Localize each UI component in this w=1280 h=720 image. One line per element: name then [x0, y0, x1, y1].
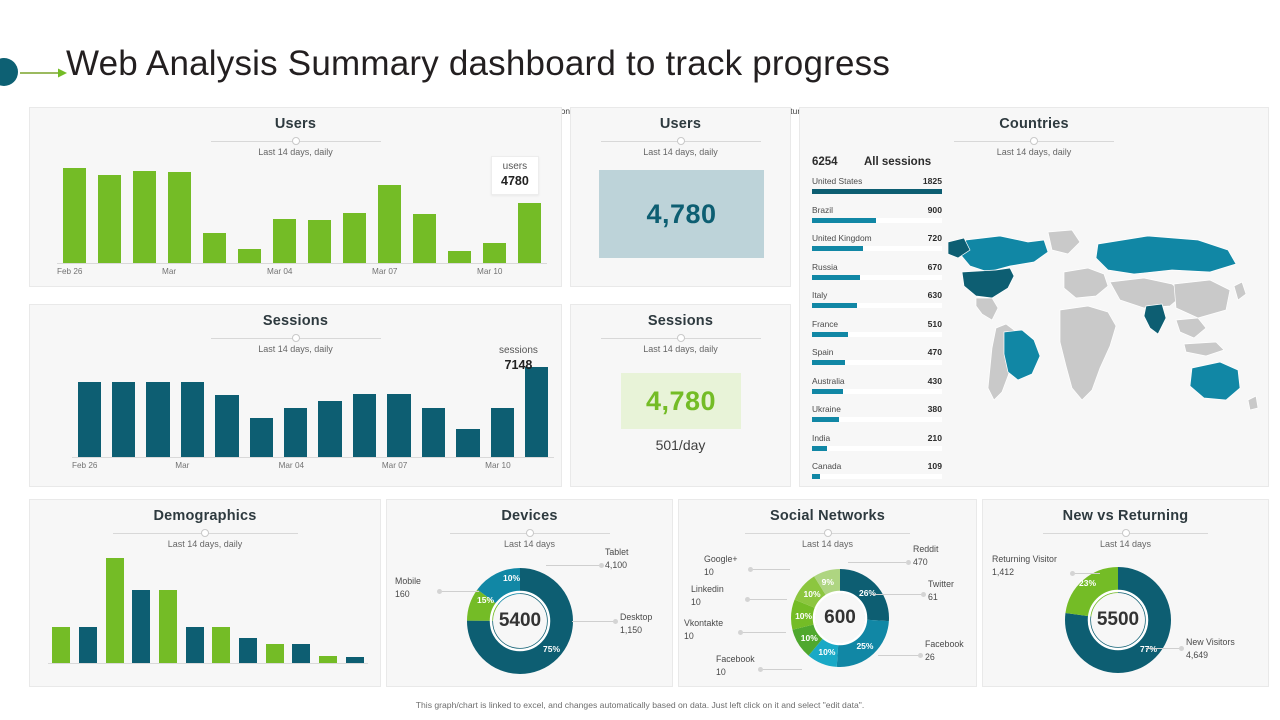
- country-bar-track: [812, 446, 942, 451]
- bar-column[interactable]: [128, 558, 155, 663]
- country-bar-track: [812, 360, 942, 365]
- country-bar-track: [812, 189, 942, 194]
- panel-subtitle: Last 14 days, daily: [30, 344, 561, 354]
- bar: [491, 408, 514, 457]
- leader-line-desktop: [572, 621, 616, 622]
- leader-line-mobile: [441, 591, 479, 592]
- social-callout: Reddit470: [913, 543, 938, 569]
- bar-column[interactable]: [485, 367, 519, 457]
- panel-title: Users: [571, 108, 790, 132]
- country-bar-track: [812, 332, 942, 337]
- bar-column[interactable]: [347, 367, 381, 457]
- social-slice-pct: 26%: [859, 588, 876, 598]
- leader-dot-returning: [1070, 571, 1075, 576]
- social-slice-pct: 9%: [822, 577, 834, 587]
- social-slice-pct: 25%: [856, 641, 873, 651]
- panel-subtitle: Last 14 days, daily: [571, 147, 790, 157]
- country-row[interactable]: France510: [812, 319, 942, 339]
- social-callout: Linkedin10: [691, 583, 724, 609]
- bar-column[interactable]: [92, 168, 127, 263]
- leader-line: [749, 599, 787, 600]
- bar: [212, 627, 230, 663]
- panel-title: Sessions: [30, 305, 561, 329]
- country-name: Ukraine: [812, 404, 841, 414]
- demographics-bar-chart[interactable]: [48, 558, 368, 663]
- country-bar-fill: [812, 360, 845, 365]
- country-name: France: [812, 319, 838, 329]
- leader-dot-mobile: [437, 589, 442, 594]
- country-name: India: [812, 433, 830, 443]
- axis-tick-label: Mar: [162, 267, 176, 276]
- bar: [186, 627, 204, 663]
- country-bar-fill: [812, 246, 863, 251]
- country-bar-track: [812, 417, 942, 422]
- bar-column[interactable]: [279, 367, 313, 457]
- country-row[interactable]: Spain470: [812, 347, 942, 367]
- page-title: Web Analysis Summary dashboard to track …: [66, 44, 890, 84]
- bar-column[interactable]: [101, 558, 128, 663]
- bar: [273, 219, 297, 263]
- bar-column[interactable]: [416, 367, 450, 457]
- country-value: 670: [928, 262, 942, 272]
- bar: [106, 558, 124, 663]
- bar-column[interactable]: [261, 558, 288, 663]
- panel-title: Sessions: [571, 305, 790, 329]
- title-rule: [113, 528, 298, 538]
- country-bar-track: [812, 246, 942, 251]
- bar: [79, 627, 97, 663]
- bar: [250, 418, 273, 457]
- tooltip-value: 7148: [499, 358, 538, 374]
- bar: [266, 644, 284, 663]
- leader-dot-new: [1179, 646, 1184, 651]
- bar-column[interactable]: [337, 168, 372, 263]
- leader-dot: [738, 630, 743, 635]
- bar-column[interactable]: [519, 367, 553, 457]
- country-value: 630: [928, 290, 942, 300]
- bar-column[interactable]: [155, 558, 182, 663]
- country-row[interactable]: India210: [812, 433, 942, 453]
- callout-label: Vkontakte: [684, 617, 723, 630]
- country-row[interactable]: United States1825: [812, 176, 942, 196]
- axis-tick-label: Mar 07: [372, 267, 397, 276]
- newret-pct-new: 77%: [1140, 644, 1157, 654]
- sessions-kpi-note: 501/day: [571, 437, 790, 453]
- title-rule: [745, 528, 910, 538]
- devices-callout-tablet: Tablet 4,100: [605, 546, 628, 572]
- country-bar-fill: [812, 389, 843, 394]
- callout-value: 61: [928, 591, 954, 604]
- users-tooltip: users 4780: [491, 156, 539, 195]
- social-callout: Vkontakte10: [684, 617, 723, 643]
- country-value: 109: [928, 461, 942, 471]
- country-bar-track: [812, 275, 942, 280]
- bar: [132, 590, 150, 663]
- social-callout: Facebook10: [716, 653, 755, 679]
- bar-column[interactable]: [57, 168, 92, 263]
- country-row[interactable]: Brazil900: [812, 205, 942, 225]
- country-value: 1825: [923, 176, 942, 186]
- callout-label: Reddit: [913, 543, 938, 556]
- leader-dot-desktop: [613, 619, 618, 624]
- panel-users-kpi: Users Last 14 days, daily 4,780: [570, 107, 791, 287]
- leader-line: [878, 655, 920, 656]
- country-bar-fill: [812, 303, 857, 308]
- bar-column[interactable]: [106, 367, 140, 457]
- bar-column[interactable]: [210, 367, 244, 457]
- country-name: United States: [812, 176, 862, 186]
- bar: [378, 185, 402, 263]
- bar: [78, 382, 101, 457]
- leader-line: [752, 569, 790, 570]
- bar: [215, 395, 238, 457]
- axis-tick-label: Mar 10: [477, 267, 502, 276]
- bar-column[interactable]: [244, 367, 278, 457]
- country-bar-fill: [812, 275, 860, 280]
- country-bar-track: [812, 474, 942, 479]
- country-name: United Kingdom: [812, 233, 872, 243]
- title-rule: [450, 528, 610, 538]
- leader-dot: [906, 560, 911, 565]
- axis-tick-label: Mar 10: [485, 461, 510, 470]
- bar: [284, 408, 307, 457]
- country-bar-fill: [812, 218, 876, 223]
- callout-value: 10: [691, 596, 724, 609]
- devices-callout-desktop: Desktop 1,150: [620, 611, 652, 637]
- country-name: Italy: [812, 290, 827, 300]
- panel-title: Social Networks: [679, 500, 976, 524]
- title-rule: [954, 136, 1114, 146]
- bar: [387, 394, 410, 457]
- panel-demographics: Demographics Last 14 days, daily: [29, 499, 381, 687]
- social-slice-pct: 10%: [795, 611, 812, 621]
- leader-dot: [748, 567, 753, 572]
- panel-title: New vs Returning: [983, 500, 1268, 524]
- bar: [518, 203, 542, 263]
- bar-column[interactable]: [288, 558, 315, 663]
- leader-line-returning: [1074, 573, 1100, 574]
- panel-sessions-chart: Sessions Last 14 days, daily Feb 26MarMa…: [29, 304, 562, 487]
- bar: [525, 367, 548, 457]
- bar-column[interactable]: [48, 558, 75, 663]
- tooltip-label: users: [501, 161, 529, 174]
- country-row[interactable]: Italy630: [812, 290, 942, 310]
- bar-column[interactable]: [181, 558, 208, 663]
- world-map: [948, 228, 1266, 453]
- bar: [146, 382, 169, 457]
- country-row[interactable]: Ukraine380: [812, 404, 942, 424]
- tooltip-label: sessions: [499, 345, 538, 358]
- x-axis: [48, 663, 368, 664]
- newret-callout-new: New Visitors 4,649: [1186, 636, 1235, 662]
- bar: [319, 656, 337, 663]
- sessions-tooltip: sessions 7148: [490, 341, 547, 378]
- bar: [133, 171, 157, 263]
- title-rule: [1043, 528, 1208, 538]
- country-row[interactable]: United Kingdom720: [812, 233, 942, 253]
- country-bar-fill: [812, 189, 942, 194]
- country-name: Spain: [812, 347, 833, 357]
- bar-column[interactable]: [407, 168, 442, 263]
- country-value: 470: [928, 347, 942, 357]
- sessions-kpi-box[interactable]: 4,780: [621, 373, 741, 429]
- bar: [63, 168, 87, 263]
- callout-label: Linkedin: [691, 583, 724, 596]
- leader-line: [848, 562, 906, 563]
- bar: [353, 394, 376, 457]
- leader-line: [872, 594, 922, 595]
- axis-tick-label: Feb 26: [57, 267, 83, 276]
- panel-subtitle: Last 14 days, daily: [571, 344, 790, 354]
- users-bar-chart[interactable]: [57, 168, 547, 263]
- bar: [308, 220, 332, 263]
- country-value: 510: [928, 319, 942, 329]
- leader-dot: [918, 653, 923, 658]
- title-rule: [211, 333, 381, 343]
- bar: [168, 172, 192, 263]
- panel-title: Countries: [800, 108, 1268, 132]
- bar: [318, 401, 341, 457]
- country-row[interactable]: Russia670: [812, 262, 942, 282]
- country-name: Australia: [812, 376, 845, 386]
- devices-pct-tablet: 10%: [503, 573, 520, 583]
- bar-column[interactable]: [341, 558, 368, 663]
- country-row[interactable]: Canada109: [812, 461, 942, 481]
- bar-column[interactable]: [302, 168, 337, 263]
- title-rule: [211, 136, 381, 146]
- leader-dot: [745, 597, 750, 602]
- leader-line-tablet: [546, 565, 602, 566]
- newret-pct-returning: 23%: [1079, 578, 1096, 588]
- social-slice-pct: 10%: [801, 633, 818, 643]
- bar-column[interactable]: [232, 168, 267, 263]
- social-callout: Twitter61: [928, 578, 954, 604]
- devices-pct-desktop: 75%: [543, 644, 560, 654]
- x-axis: [72, 457, 554, 458]
- axis-tick-label: Mar: [175, 461, 189, 470]
- country-value: 210: [928, 433, 942, 443]
- country-value: 430: [928, 376, 942, 386]
- bar: [181, 382, 204, 457]
- country-name: Brazil: [812, 205, 833, 215]
- callout-value: 10: [704, 566, 738, 579]
- sessions-bar-chart[interactable]: [72, 367, 554, 457]
- bar: [112, 382, 135, 457]
- bar-column[interactable]: [313, 367, 347, 457]
- callout-value: 470: [913, 556, 938, 569]
- bar-column[interactable]: [382, 367, 416, 457]
- country-bar-track: [812, 218, 942, 223]
- country-bar-fill: [812, 446, 827, 451]
- title-rule: [601, 333, 761, 343]
- callout-label: Twitter: [928, 578, 954, 591]
- bar: [203, 233, 227, 263]
- panel-subtitle: Last 14 days, daily: [30, 147, 561, 157]
- devices-callout-mobile: Mobile 160: [395, 575, 421, 601]
- country-name: Canada: [812, 461, 841, 471]
- bar: [239, 638, 257, 663]
- social-callout: Facebook26: [925, 638, 964, 664]
- bar: [448, 251, 472, 263]
- country-row[interactable]: Australia430: [812, 376, 942, 396]
- newret-callout-returning: Returning Visitor 1,412: [992, 553, 1057, 579]
- social-slice-pct: 10%: [803, 589, 820, 599]
- panel-subtitle: Last 14 days: [983, 539, 1268, 549]
- bar-column[interactable]: [197, 168, 232, 263]
- decorative-circle: [0, 58, 18, 86]
- panel-subtitle: Last 14 days: [387, 539, 672, 549]
- axis-tick-label: Mar 04: [267, 267, 292, 276]
- bar: [238, 249, 262, 263]
- axis-tick-label: Mar 04: [279, 461, 304, 470]
- social-callout: Google+10: [704, 553, 738, 579]
- country-bar-fill: [812, 417, 839, 422]
- bar: [98, 175, 122, 263]
- devices-center-value: 5400: [466, 567, 574, 675]
- bar: [483, 243, 507, 263]
- leader-line: [762, 669, 802, 670]
- countries-total-label: All sessions: [864, 156, 931, 168]
- sessions-kpi-value: 4,780: [646, 386, 716, 417]
- bar: [413, 214, 437, 263]
- country-value: 380: [928, 404, 942, 414]
- bar-column[interactable]: [175, 367, 209, 457]
- bar: [159, 590, 177, 663]
- bar-column[interactable]: [451, 367, 485, 457]
- panel-title: Devices: [387, 500, 672, 524]
- country-value: 720: [928, 233, 942, 243]
- devices-pct-mobile: 15%: [477, 595, 494, 605]
- panel-title: Demographics: [30, 500, 380, 524]
- bar: [456, 429, 479, 457]
- leader-dot: [921, 592, 926, 597]
- bar-column[interactable]: [267, 168, 302, 263]
- leader-dot-tablet: [599, 563, 604, 568]
- tooltip-value: 4780: [501, 174, 529, 190]
- callout-label: Google+: [704, 553, 738, 566]
- x-axis: [57, 263, 547, 264]
- country-name: Russia: [812, 262, 838, 272]
- page-header: Web Analysis Summary dashboard to track …: [0, 22, 1280, 82]
- panel-sessions-kpi: Sessions Last 14 days, daily 4,780 501/d…: [570, 304, 791, 487]
- footer-note: This graph/chart is linked to excel, and…: [0, 700, 1280, 710]
- bar: [292, 644, 310, 663]
- bar-column[interactable]: [72, 367, 106, 457]
- bar: [422, 408, 445, 457]
- bar-column[interactable]: [315, 558, 342, 663]
- arrow-icon: [20, 67, 68, 79]
- callout-value: 10: [684, 630, 723, 643]
- users-kpi-box[interactable]: 4,780: [599, 170, 764, 258]
- country-bar-fill: [812, 474, 820, 479]
- bar: [343, 213, 367, 263]
- bar-column[interactable]: [75, 558, 102, 663]
- panel-users-chart: Users Last 14 days, daily Feb 26MarMar 0…: [29, 107, 562, 287]
- bar-column[interactable]: [372, 168, 407, 263]
- bar-column[interactable]: [235, 558, 262, 663]
- leader-line: [742, 632, 786, 633]
- callout-value: 26: [925, 651, 964, 664]
- panel-title: Users: [30, 108, 561, 132]
- country-bar-track: [812, 303, 942, 308]
- countries-total: 6254: [812, 156, 838, 168]
- bar: [52, 627, 70, 663]
- bar-column[interactable]: [162, 168, 197, 263]
- callout-label: Facebook: [716, 653, 755, 666]
- leader-dot: [758, 667, 763, 672]
- country-bar-track: [812, 389, 942, 394]
- country-value: 900: [928, 205, 942, 215]
- title-rule: [601, 136, 761, 146]
- leader-line-new: [1146, 648, 1182, 649]
- bar-column[interactable]: [127, 168, 162, 263]
- users-kpi-value: 4,780: [646, 199, 716, 230]
- social-slice-pct: 10%: [818, 647, 835, 657]
- callout-label: Facebook: [925, 638, 964, 651]
- bar-column[interactable]: [442, 168, 477, 263]
- callout-value: 10: [716, 666, 755, 679]
- bar-column[interactable]: [208, 558, 235, 663]
- country-bar-fill: [812, 332, 848, 337]
- axis-tick-label: Feb 26: [72, 461, 98, 470]
- axis-tick-label: Mar 07: [382, 461, 407, 470]
- panel-subtitle: Last 14 days, daily: [30, 539, 380, 549]
- bar-column[interactable]: [141, 367, 175, 457]
